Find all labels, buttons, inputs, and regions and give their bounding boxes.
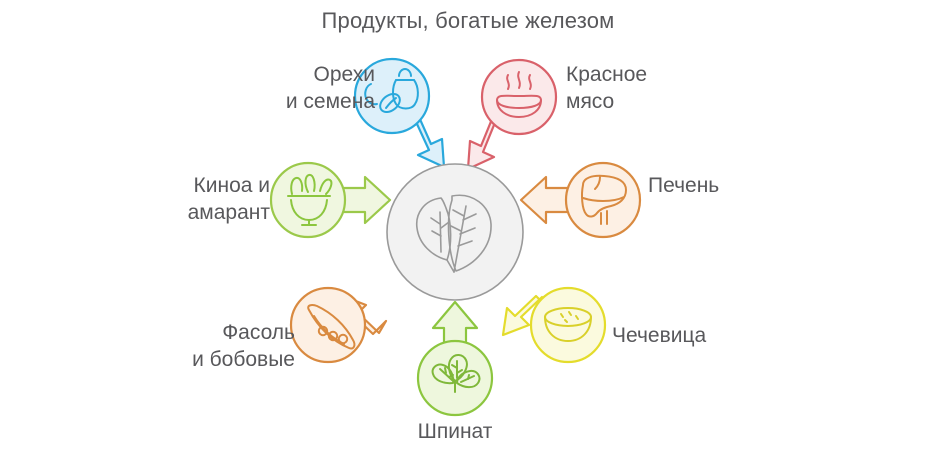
node-liver[interactable] <box>566 163 640 237</box>
center-node <box>387 164 523 300</box>
label-nuts-seeds: Орехи и семена <box>250 62 375 116</box>
node-red-meat[interactable] <box>482 60 556 134</box>
label-beans-legumes: Фасоль и бобовые <box>140 320 295 374</box>
label-quinoa-amaranth: Киноа и амарант <box>130 173 270 227</box>
node-beans-legumes[interactable] <box>291 288 365 362</box>
label-red-meat: Красное мясо <box>566 62 726 116</box>
label-lentils: Чечевица <box>612 323 792 350</box>
label-spinach: Шпинат <box>365 419 545 446</box>
iron-rich-foods-infographic: Продукты, богатые железом <box>0 0 936 455</box>
label-liver: Печень <box>648 173 808 200</box>
node-quinoa-amaranth[interactable] <box>271 163 345 237</box>
diagram-canvas <box>0 0 936 455</box>
node-lentils[interactable] <box>531 288 605 362</box>
node-spinach[interactable] <box>418 341 492 415</box>
